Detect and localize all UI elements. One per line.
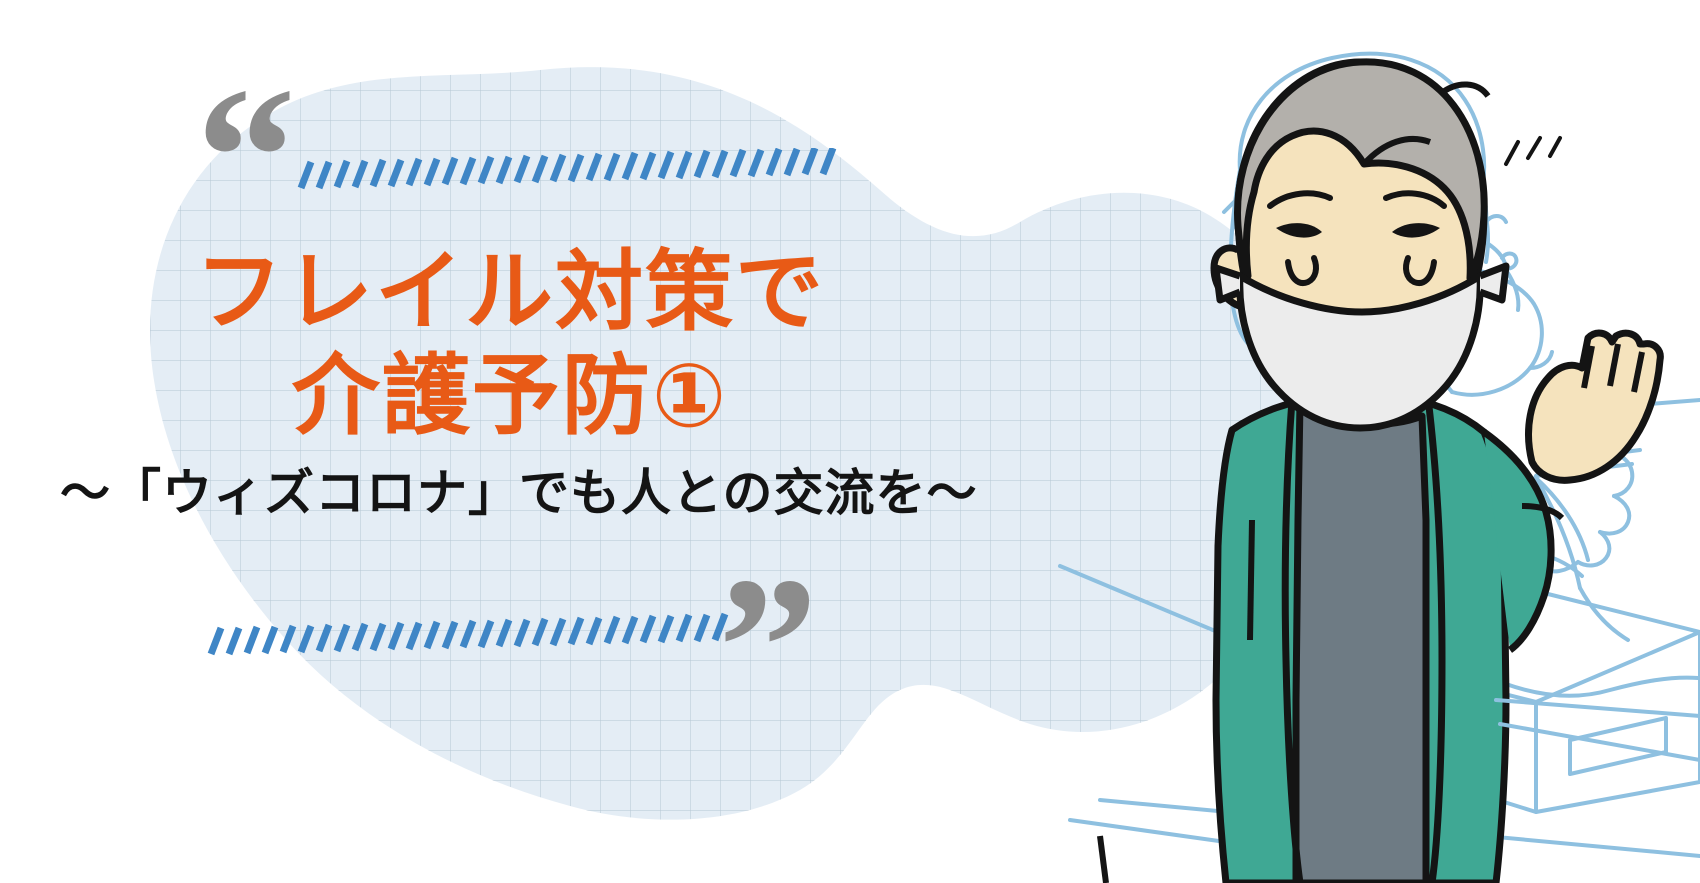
headline-block: フレイル対策で 介護予防① 〜「ウィズコロナ」でも人との交流を〜	[60, 240, 960, 521]
motion-lines	[1506, 138, 1560, 164]
title-line-2: 介護予防①	[60, 344, 960, 448]
subtitle: 〜「ウィズコロナ」でも人との交流を〜	[60, 466, 960, 521]
dashed-rule-bottom	[205, 612, 745, 660]
title-line-1: フレイル対策で	[60, 240, 960, 344]
dashed-rule-top	[295, 148, 855, 196]
opening-quote-icon: “	[196, 58, 296, 258]
elderly-man-illustration	[1100, 62, 1660, 883]
closing-quote-icon: ”	[718, 548, 818, 748]
illustration-group	[940, 0, 1700, 883]
inner-shirt	[1296, 402, 1426, 883]
banner-root: “ ” フレイル対策で 介護予防① 〜「ウィズコロナ」でも人との交流を〜	[0, 0, 1700, 883]
table-front-edge	[1496, 700, 1700, 760]
